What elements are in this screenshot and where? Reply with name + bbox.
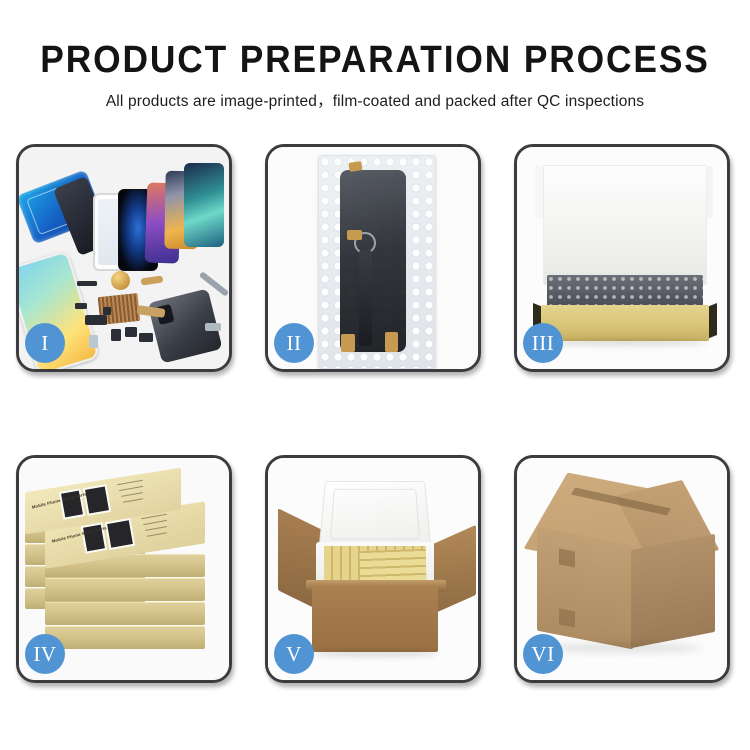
process-steps-grid: I II: [16, 144, 734, 683]
process-step-card-4[interactable]: Mobile Phone Spare Parts Mobile Phone Sp…: [16, 455, 232, 683]
step-badge-6: VI: [523, 634, 563, 674]
process-step-card-2[interactable]: II: [265, 144, 481, 372]
product-preparation-process-page: PRODUCT PREPARATION PROCESS All products…: [0, 0, 750, 750]
step-badge-4: IV: [25, 634, 65, 674]
process-step-card-1[interactable]: I: [16, 144, 232, 372]
process-step-card-6[interactable]: VI: [514, 455, 730, 683]
process-step-card-5[interactable]: V: [265, 455, 481, 683]
step-badge-5: V: [274, 634, 314, 674]
step-badge-3: III: [523, 323, 563, 363]
process-step-card-3[interactable]: III: [514, 144, 730, 372]
page-header: PRODUCT PREPARATION PROCESS All products…: [0, 0, 750, 111]
step-badge-1: I: [25, 323, 65, 363]
page-title: PRODUCT PREPARATION PROCESS: [26, 40, 724, 80]
page-subtitle: All products are image-printed，film-coat…: [0, 89, 750, 111]
step-badge-2: II: [274, 323, 314, 363]
